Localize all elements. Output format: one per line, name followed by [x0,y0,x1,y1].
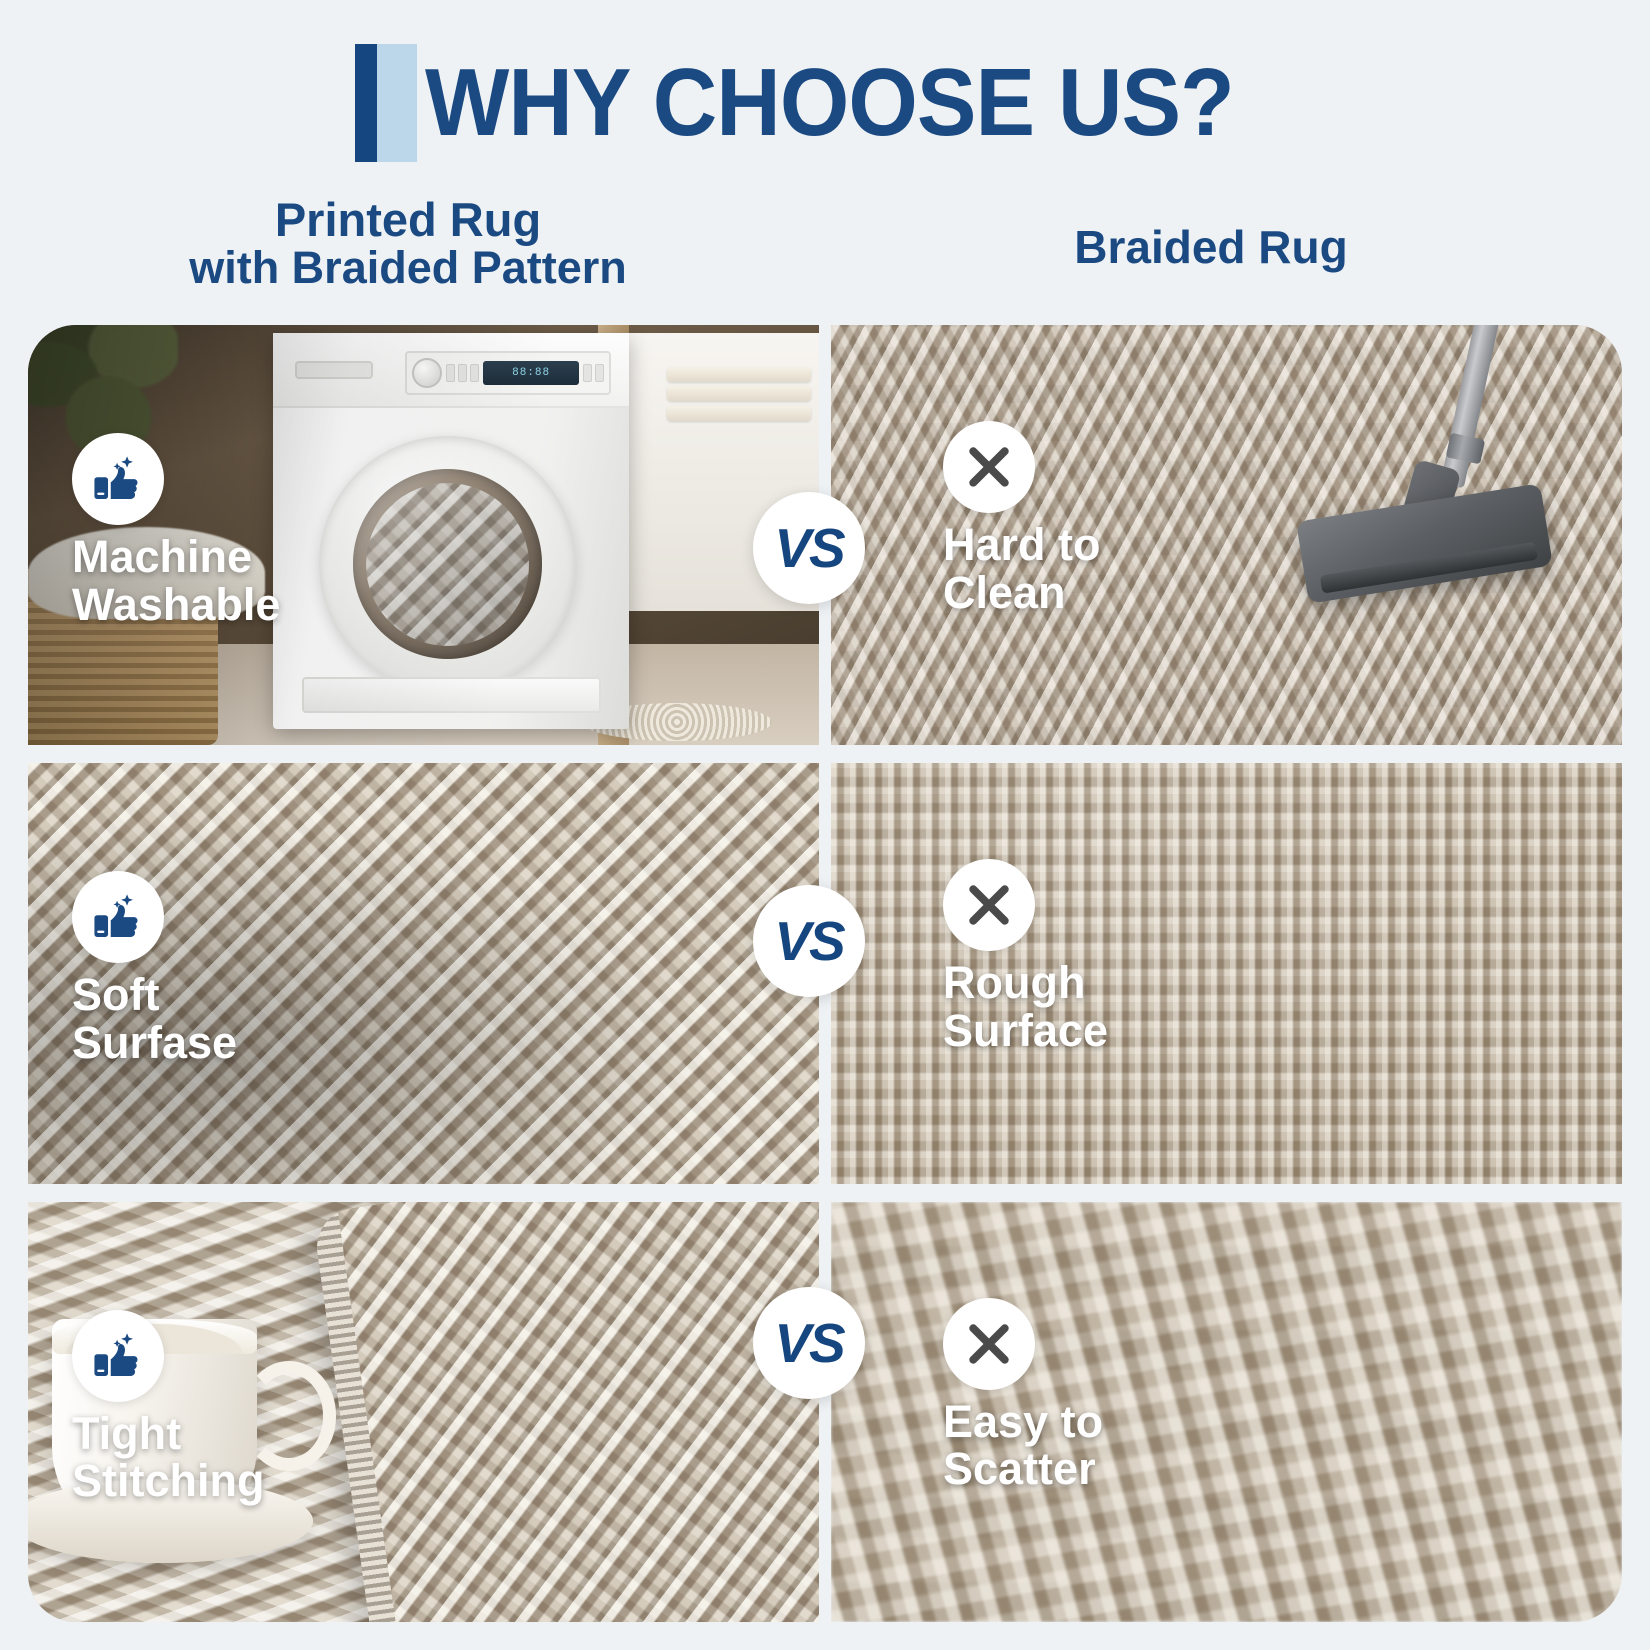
vacuum-pipe [1441,325,1502,488]
badge-con-hard-to-clean [943,421,1035,513]
column-header-left-line2: with Braided Pattern [28,245,788,292]
panel-rough-surface: Rough Surface [831,763,1622,1183]
title-accent-dark-bar [355,44,377,162]
x-mark-icon [961,877,1017,933]
poster-title-row: WHY CHOOSE US? [0,38,1650,168]
washer-display-text: 88:88 [512,367,550,379]
thumbs-up-sparkle-icon [89,450,147,508]
washer-display: 88:88 [483,361,579,385]
caption-con-rough-surface: Rough Surface [943,959,1108,1054]
vs-badge-label-2: VS [774,914,843,969]
panel-soft-surface: Soft Surfase [28,763,819,1183]
washing-machine: 88:88 [273,333,629,728]
washer-buttons-right [583,364,604,382]
towel-stack-1 [667,367,811,382]
panel-tight-stitching: Tight Stitching [28,1202,819,1622]
washer-handle [295,361,373,379]
caption-pro-soft-surface: Soft Surfase [72,971,237,1066]
washer-dial-icon [412,358,442,388]
x-mark-icon [961,1316,1017,1372]
column-header-left: Printed Rug with Braided Pattern [28,196,788,292]
vs-badge-row-2: VS [753,885,865,997]
vs-badge-label-3: VS [774,1316,843,1371]
rug-fold-texture [312,1202,819,1622]
page-title: WHY CHOOSE US? [425,55,1234,151]
thumbs-up-sparkle-icon [89,888,147,946]
caption-pro-machine-washable: Machine Washable [72,533,280,628]
washer-door-ring [353,469,543,659]
column-headers: Printed Rug with Braided Pattern Braided… [0,196,1650,308]
towel-stack-2 [667,386,811,401]
vs-badge-row-3: VS [753,1287,865,1399]
badge-con-rough-surface [943,859,1035,951]
column-header-right: Braided Rug [800,224,1622,272]
washer-buttons [446,364,479,382]
washer-detergent-drawer [302,677,601,713]
caption-pro-tight-stitching: Tight Stitching [72,1410,264,1505]
panel-hard-to-clean: Hard to Clean [831,325,1622,745]
badge-pro-soft-surface [72,871,164,963]
vs-badge-row-1: VS [753,492,865,604]
washer-control-panel: 88:88 [405,351,611,394]
caption-con-hard-to-clean: Hard to Clean [943,521,1101,616]
badge-pro-tight-stitching [72,1310,164,1402]
why-choose-us-poster: WHY CHOOSE US? Printed Rug with Braided … [0,0,1650,1650]
door-glass-reflection [353,469,543,659]
vacuum-cleaner [1290,325,1559,586]
thumbs-up-sparkle-icon [89,1327,147,1385]
x-mark-icon [961,439,1017,495]
badge-con-easy-to-scatter [943,1298,1035,1390]
washer-door [319,436,575,692]
title-accent-mark [355,44,417,162]
badge-pro-machine-washable [72,433,164,525]
vs-badge-label-1: VS [774,521,843,576]
towel-stack-3 [667,406,811,421]
caption-con-easy-to-scatter: Easy to Scatter [943,1398,1103,1493]
rug-folded-corner [312,1202,819,1622]
panel-easy-to-scatter: Easy to Scatter [831,1202,1622,1622]
column-header-left-line1: Printed Rug [28,196,788,245]
panel-machine-washable: 88:88 [28,325,819,745]
